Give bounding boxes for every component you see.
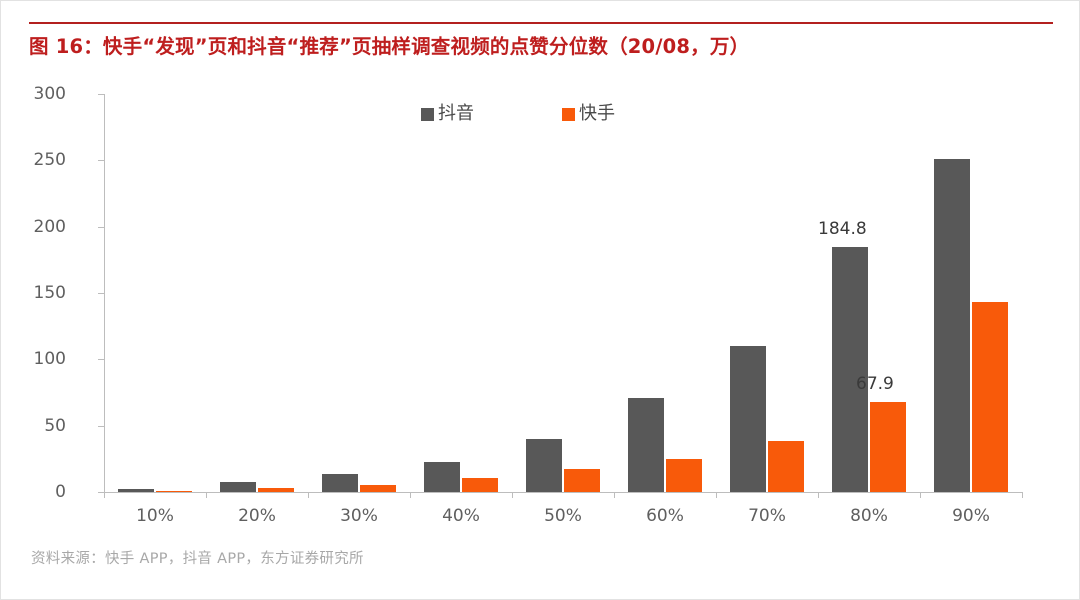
bar-快手-50%	[564, 469, 600, 492]
bar-抖音-20%	[220, 482, 256, 492]
y-axis-tick	[98, 426, 104, 427]
x-axis-tick-label: 40%	[410, 508, 512, 525]
y-axis-tick-label: 150	[6, 285, 66, 302]
x-axis-tick	[104, 492, 105, 498]
x-axis-tick-label: 50%	[512, 508, 614, 525]
y-axis-tick-label: 250	[6, 152, 66, 169]
x-axis-tick	[920, 492, 921, 498]
x-axis-tick-label: 60%	[614, 508, 716, 525]
y-axis-tick-label: 200	[6, 219, 66, 236]
bar-抖音-10%	[118, 489, 154, 492]
x-axis-tick	[206, 492, 207, 498]
bar-快手-70%	[768, 441, 804, 492]
y-axis-tick-label: 300	[6, 86, 66, 103]
x-axis-tick	[818, 492, 819, 498]
bar-快手-40%	[462, 478, 498, 492]
y-axis-tick-label: 100	[6, 351, 66, 368]
bar-快手-10%	[156, 491, 192, 492]
bar-抖音-60%	[628, 398, 664, 492]
x-axis-line	[104, 492, 1022, 493]
x-axis-tick-label: 90%	[920, 508, 1022, 525]
x-axis-tick-label: 80%	[818, 508, 920, 525]
bar-value-label: 184.8	[818, 221, 867, 238]
bar-快手-20%	[258, 488, 294, 492]
x-axis-tick	[614, 492, 615, 498]
bar-抖音-40%	[424, 462, 460, 493]
bar-抖音-70%	[730, 346, 766, 492]
legend-label: 抖音	[438, 105, 474, 123]
x-axis-tick-label: 70%	[716, 508, 818, 525]
bar-抖音-50%	[526, 439, 562, 492]
legend-item-快手[interactable]: 快手	[562, 105, 615, 123]
x-axis-tick-label: 30%	[308, 508, 410, 525]
legend-swatch-icon	[562, 108, 575, 121]
y-axis-tick	[98, 94, 104, 95]
source-note: 资料来源：快手 APP，抖音 APP，东方证券研究所	[31, 547, 364, 568]
x-axis-tick	[512, 492, 513, 498]
bar-抖音-80%	[832, 247, 868, 492]
figure-container: 图 16：快手“发现”页和抖音“推荐”页抽样调查视频的点赞分位数（20/08，万…	[0, 0, 1080, 600]
bar-抖音-30%	[322, 474, 358, 492]
y-axis-tick	[98, 359, 104, 360]
bar-value-label: 67.9	[856, 376, 894, 393]
y-axis-tick	[98, 160, 104, 161]
bar-快手-60%	[666, 459, 702, 492]
x-axis-tick	[1022, 492, 1023, 498]
chart-plot-area: 050100150200250300 10%20%30%40%50%60%70%…	[1, 1, 1080, 600]
bar-抖音-90%	[934, 159, 970, 492]
x-axis-tick-label: 10%	[104, 508, 206, 525]
x-axis-tick	[410, 492, 411, 498]
x-axis-tick	[308, 492, 309, 498]
legend-swatch-icon	[421, 108, 434, 121]
x-axis-tick-label: 20%	[206, 508, 308, 525]
chart-legend: 抖音快手	[421, 105, 615, 123]
bar-快手-30%	[360, 485, 396, 492]
y-axis-tick	[98, 293, 104, 294]
y-axis-tick-label: 50	[6, 418, 66, 435]
y-axis-line	[104, 94, 105, 492]
y-axis-tick	[98, 227, 104, 228]
bar-快手-80%	[870, 402, 906, 492]
y-axis-tick-label: 0	[6, 484, 66, 501]
legend-label: 快手	[579, 105, 615, 123]
legend-item-抖音[interactable]: 抖音	[421, 105, 474, 123]
bar-快手-90%	[972, 302, 1008, 492]
x-axis-tick	[716, 492, 717, 498]
